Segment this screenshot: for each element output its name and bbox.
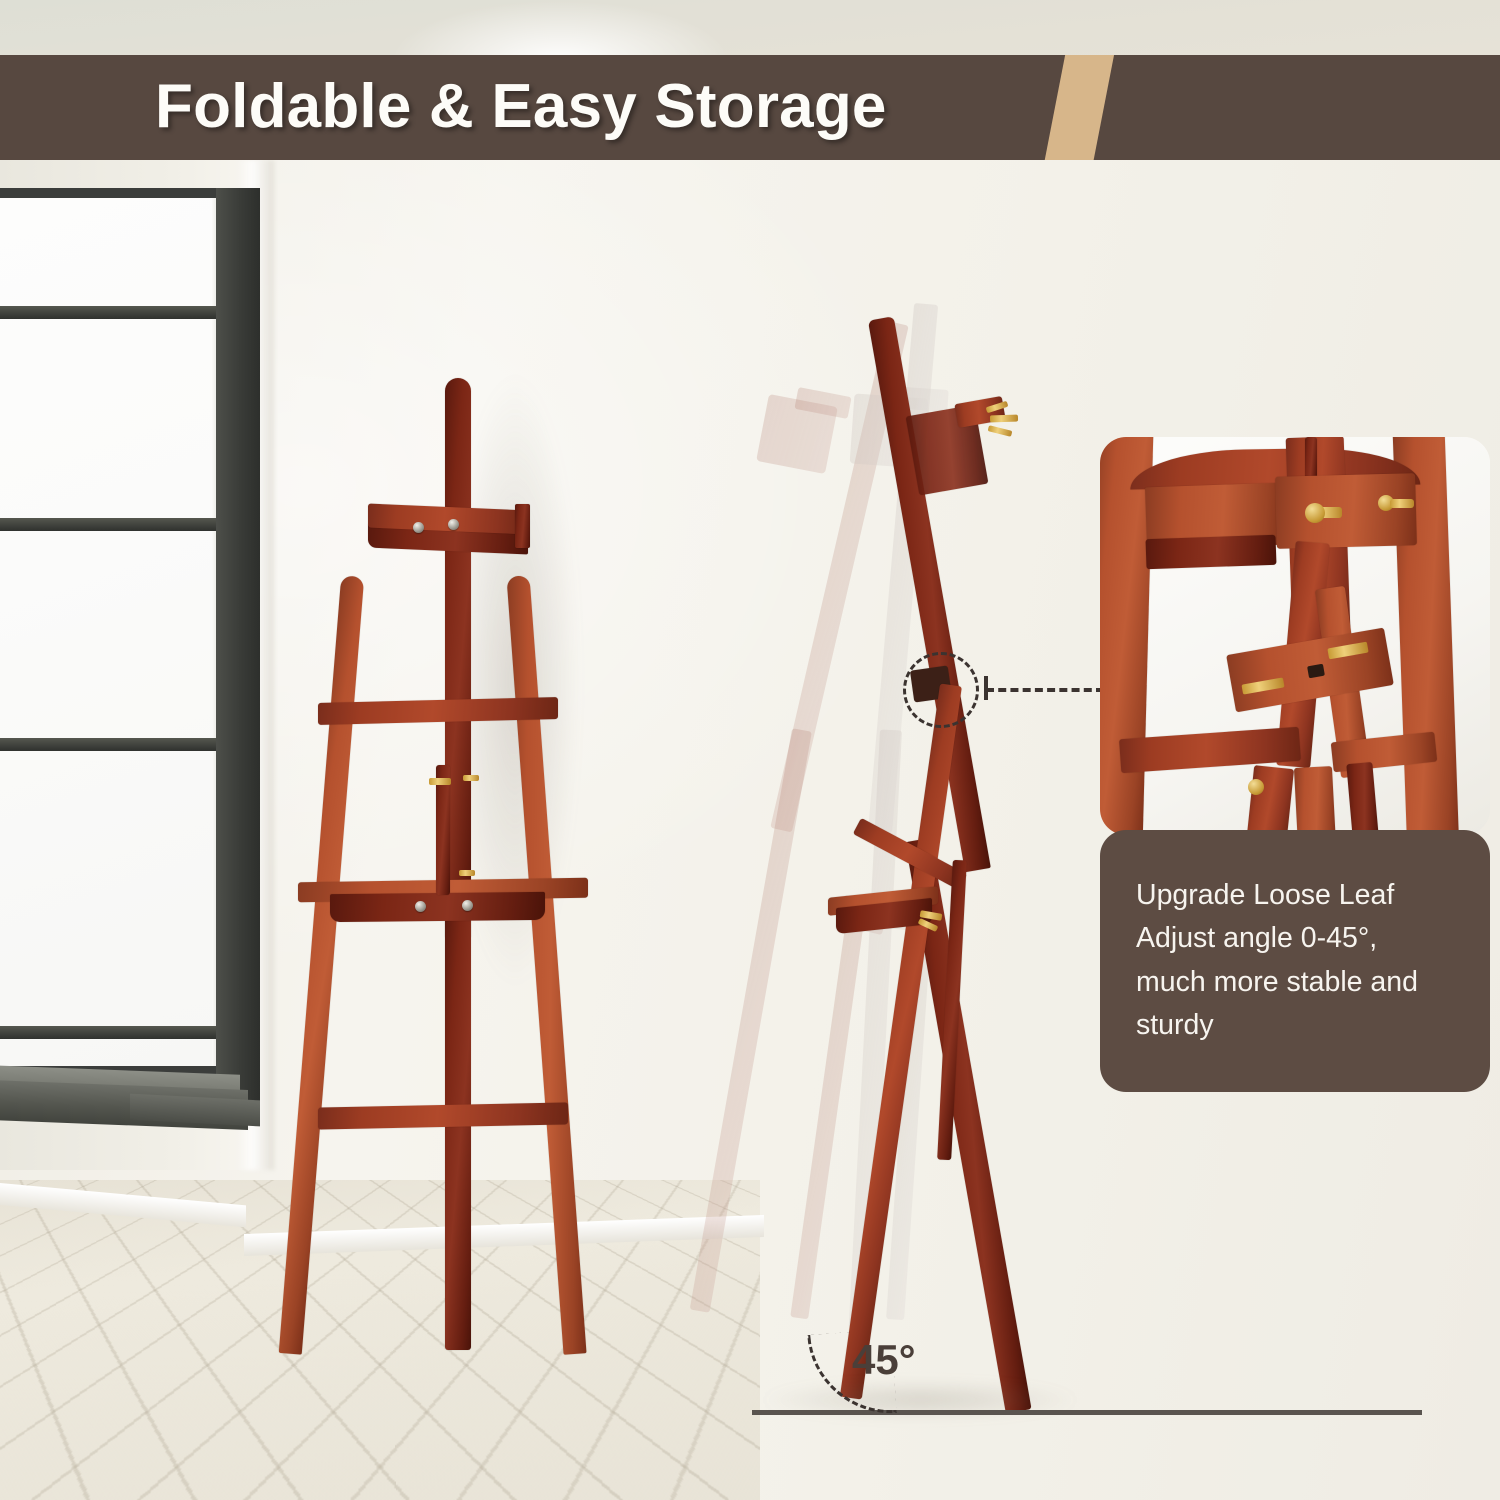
ceiling xyxy=(0,0,1500,57)
easel-crossbar-lower xyxy=(318,1102,568,1129)
brass-knob-icon xyxy=(429,778,451,785)
photo-mast-groove xyxy=(1305,437,1317,481)
photo-leg-right xyxy=(1294,766,1336,835)
callout-text: Upgrade Loose Leaf Adjust angle 0-45°, m… xyxy=(1136,874,1454,1047)
brass-knob-icon xyxy=(459,870,475,876)
easel-diagonal-brace xyxy=(853,818,967,890)
easel-rear-leg xyxy=(279,575,364,1354)
ceiling-light-glow xyxy=(390,0,730,60)
window-mullion xyxy=(0,518,220,531)
screw-icon xyxy=(462,900,473,911)
banner-title: Foldable & Easy Storage xyxy=(155,71,887,142)
brass-screw-icon xyxy=(1248,779,1264,795)
hinge-closeup-photo xyxy=(1100,437,1490,835)
window-mullion xyxy=(0,1026,220,1039)
brass-knob-icon xyxy=(988,425,1013,437)
window-glass xyxy=(0,198,218,1066)
easel-top-clamp-end xyxy=(515,504,530,548)
screw-icon xyxy=(413,522,424,533)
easel-tray-front xyxy=(330,892,545,922)
brass-knob-icon xyxy=(990,415,1018,423)
product-infographic: 45° Foldable & Easy Storage xyxy=(0,0,1500,1500)
window-mullion xyxy=(0,738,220,751)
banner-accent-stripe xyxy=(1042,55,1117,160)
leader-line xyxy=(986,688,1104,692)
window-mullion xyxy=(0,306,220,319)
photo-leg-left xyxy=(1246,765,1294,835)
brass-screw-icon xyxy=(1305,503,1325,523)
screw-icon xyxy=(415,901,426,912)
window xyxy=(0,188,260,1108)
brass-screw-icon xyxy=(1390,499,1414,508)
easel-top-clamp-bar xyxy=(954,396,1005,428)
easel-mast-lower xyxy=(445,910,471,1350)
ground-reference-line xyxy=(752,1410,1422,1415)
folding-wooden-easel xyxy=(740,300,1140,1420)
feature-callout-card: Upgrade Loose Leaf Adjust angle 0-45°, m… xyxy=(1100,437,1490,1092)
banner: Foldable & Easy Storage xyxy=(0,55,1500,160)
photo-canvas-shelf-edge xyxy=(1146,535,1277,570)
callout-text-panel: Upgrade Loose Leaf Adjust angle 0-45°, m… xyxy=(1100,830,1490,1092)
brass-knob-icon xyxy=(463,775,479,781)
photo-knob-block xyxy=(1275,473,1417,549)
angle-label: 45° xyxy=(852,1336,916,1384)
screw-icon xyxy=(448,519,459,530)
standing-wooden-easel xyxy=(250,370,650,1340)
hinge-highlight-circle xyxy=(903,652,979,728)
